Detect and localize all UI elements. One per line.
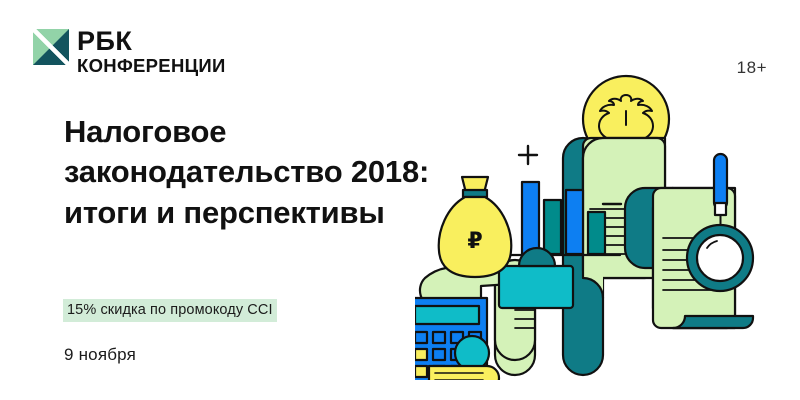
conference-banner: РБК КОНФЕРЕНЦИИ 18+ Налоговое законодате…: [0, 0, 800, 400]
book-stack-icon: [429, 366, 499, 380]
logo-line-rbk: РБК: [77, 28, 226, 55]
logo-diagonal-shape: [33, 29, 69, 65]
rbc-conferences-logo[interactable]: РБК КОНФЕРЕНЦИИ: [33, 29, 226, 76]
promo-code-container: 15% скидка по промокоду CCI: [63, 299, 277, 322]
event-date: 9 ноября: [64, 345, 136, 365]
plus-sign: [519, 146, 537, 164]
money-bag-icon: ₽: [439, 177, 512, 277]
tax-legislation-illustration: ₽: [415, 70, 790, 380]
svg-text:₽: ₽: [467, 229, 482, 254]
logo-line-conferences: КОНФЕРЕНЦИИ: [77, 57, 226, 76]
promo-code-text: 15% скидка по промокоду CCI: [63, 299, 277, 322]
rbc-logo-icon: [33, 29, 69, 65]
logo-wordmark: РБК КОНФЕРЕНЦИИ: [77, 29, 226, 76]
